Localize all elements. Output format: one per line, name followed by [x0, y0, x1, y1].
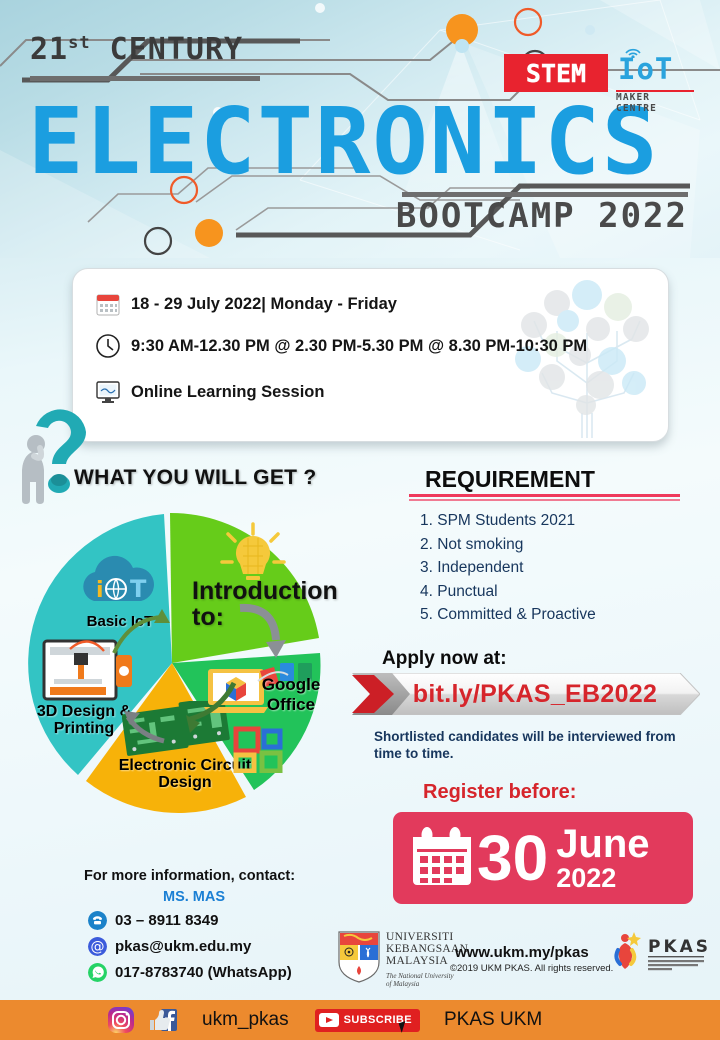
deadline-month: June	[556, 825, 649, 863]
schedule-mode: Online Learning Session	[131, 383, 324, 402]
segment-label-google-office: GoogleOffice	[248, 675, 334, 715]
ukm-tagline: The National Universityof Malaysia	[386, 972, 456, 988]
deadline-calendar-icon	[409, 825, 475, 891]
requirement-heading: REQUIREMENT	[425, 466, 595, 493]
apply-link-text[interactable]: bit.ly/PKAS_EB2022	[352, 673, 700, 715]
youtube-channel-name[interactable]: PKAS UKM	[444, 1009, 542, 1031]
deadline-year: 2022	[556, 864, 649, 892]
schedule-date: 18 - 29 July 2022| Monday - Friday	[131, 295, 397, 314]
contact-whatsapp: 017-8783740 (WhatsApp)	[115, 964, 292, 981]
copyright-text: ©2019 UKM PKAS. All rights reserved.	[450, 963, 613, 974]
schedule-date-row: 18 - 29 July 2022| Monday - Friday	[95, 291, 397, 317]
contact-row-email[interactable]: @ pkas@ukm.edu.my	[88, 937, 251, 956]
email-at-icon: @	[88, 937, 107, 956]
schedule-time: 9:30 AM-12.30 PM @ 2.30 PM-5.30 PM @ 8.3…	[131, 337, 587, 356]
requirement-underline-secondary	[409, 499, 680, 501]
schedule-mode-row: Online Learning Session	[95, 379, 324, 405]
list-item: 4. Punctual	[420, 580, 596, 604]
contact-phone: 03 – 8911 8349	[115, 912, 218, 929]
svg-text:i: i	[96, 578, 104, 603]
instagram-icon[interactable]	[108, 1007, 134, 1033]
shortlist-note: Shortlisted candidates will be interview…	[374, 728, 696, 762]
facebook-like-icon[interactable]	[148, 1008, 178, 1032]
apply-link-banner[interactable]: bit.ly/PKAS_EB2022	[352, 673, 700, 715]
stem-badge: STEM	[504, 54, 608, 92]
intro-curved-arrow-icon	[236, 600, 298, 662]
century-rule	[30, 76, 260, 81]
apply-now-label: Apply now at:	[382, 648, 507, 670]
svg-text:T: T	[130, 575, 147, 603]
iot-wordmark: IoT	[618, 52, 673, 86]
social-handle[interactable]: ukm_pkas	[202, 1009, 289, 1031]
list-item: 3. Independent	[420, 556, 596, 580]
deadline-day: 30	[477, 826, 548, 890]
century-kicker: 21st CENTURY	[30, 32, 243, 67]
pkas-wordmark: PKAS	[648, 937, 708, 957]
register-before-label: Register before:	[423, 781, 576, 804]
ukm-line-1: UNIVERSITI	[386, 931, 468, 943]
header-banner: 21st CENTURY ELECTRONICS BOOTCAMP 2022 S…	[0, 0, 720, 258]
schedule-time-row: 9:30 AM-12.30 PM @ 2.30 PM-5.30 PM @ 8.3…	[95, 333, 587, 359]
stem-iot-logo: STEM IoT MAKER CENTRE	[504, 48, 694, 110]
what-you-get-heading: WHAT YOU WILL GET ?	[74, 466, 317, 490]
deadline-badge: 30 June 2022	[393, 812, 693, 904]
iot-cloud-icon: i T	[72, 547, 164, 613]
contact-heading: For more information, contact:	[84, 868, 295, 884]
list-item: 5. Committed & Proactive	[420, 603, 596, 627]
social-bar: ukm_pkas SUBSCRIBE PKAS UKM	[0, 1000, 720, 1040]
requirement-list: 1. SPM Students 2021 2. Not smoking 3. I…	[420, 509, 596, 627]
ukm-crest-logo	[336, 928, 382, 984]
svg-text:@: @	[91, 939, 105, 955]
maker-centre-label: MAKER CENTRE	[616, 92, 694, 114]
deadline-month-year: June 2022	[556, 825, 649, 892]
calendar-icon	[95, 291, 121, 317]
clock-icon	[95, 333, 121, 359]
contact-row-phone[interactable]: 03 – 8911 8349	[88, 911, 218, 930]
requirement-underline	[409, 494, 680, 497]
whatsapp-icon	[88, 963, 107, 982]
contact-email: pkas@ukm.edu.my	[115, 938, 251, 955]
contact-person-name: MS. MAS	[163, 889, 225, 905]
3d-printer-icon	[40, 635, 140, 707]
segment-label-basic-iot: Basic IoT	[66, 613, 174, 630]
list-item: 2. Not smoking	[420, 533, 596, 557]
page-subtitle: BOOTCAMP 2022	[396, 196, 688, 236]
poster-root: 21st CENTURY ELECTRONICS BOOTCAMP 2022 S…	[0, 0, 720, 1040]
list-item: 1. SPM Students 2021	[420, 509, 596, 533]
schedule-card: 18 - 29 July 2022| Monday - Friday 9:30 …	[72, 268, 669, 442]
youtube-play-icon	[319, 1013, 339, 1027]
website-url[interactable]: www.ukm.my/pkas	[455, 944, 589, 961]
thinking-person-question-icon	[8, 398, 118, 518]
phone-icon	[88, 911, 107, 930]
pkas-logo: PKAS	[612, 928, 708, 978]
contact-row-whatsapp[interactable]: 017-8783740 (WhatsApp)	[88, 963, 292, 982]
